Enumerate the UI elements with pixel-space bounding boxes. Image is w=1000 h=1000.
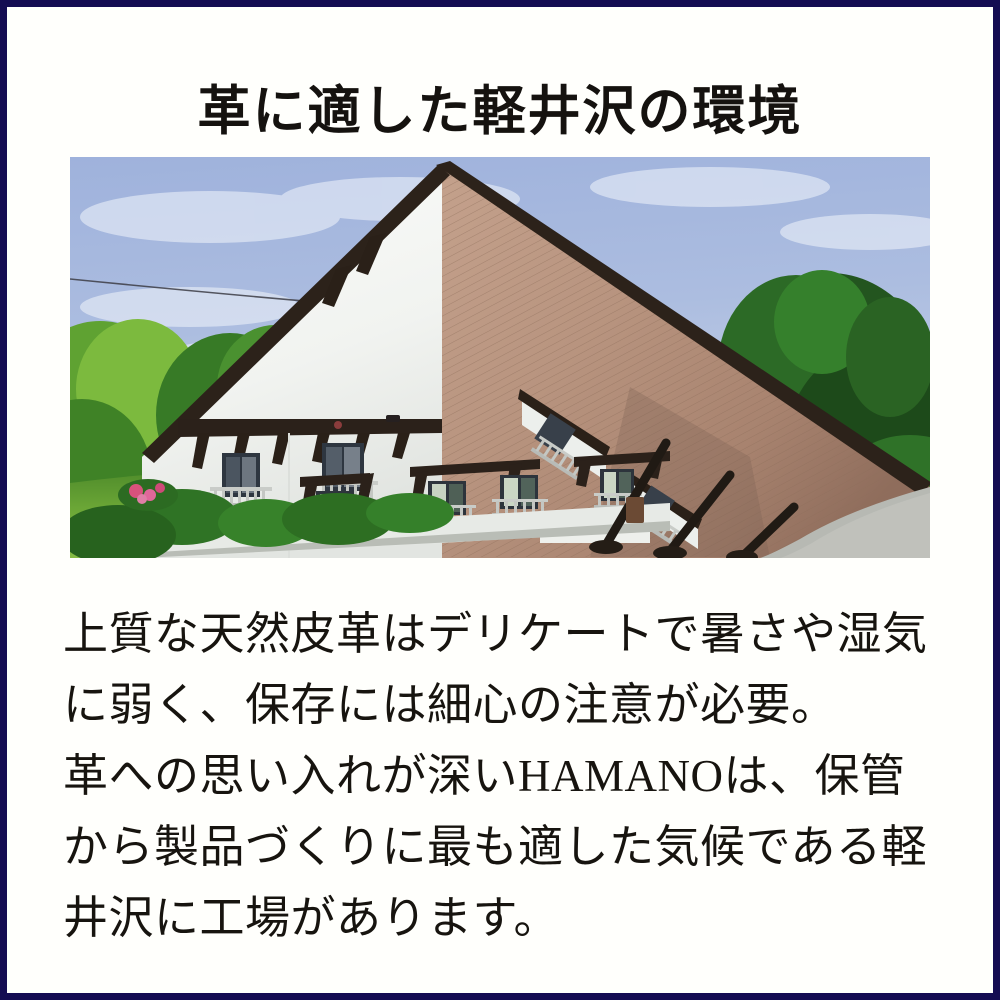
karuizawa-factory-lodge-photo xyxy=(70,157,930,558)
body-line-4: から製品づくりに最も適した気候である軽 xyxy=(63,812,953,883)
flower-box xyxy=(334,421,342,429)
page-title: 革に適した軽井沢の環境 xyxy=(7,79,993,145)
outdoor-bin xyxy=(626,497,644,523)
body-line-3: 革への思い入れが深いHAMANOは、保管 xyxy=(63,741,953,812)
flowering-bush xyxy=(118,479,178,511)
body-line-5: 井沢に工場があります。 xyxy=(63,883,953,954)
wall-lamp xyxy=(386,415,400,422)
body-line-2: に弱く、保存には細心の注意が必要。 xyxy=(63,670,953,741)
product-info-page: 革に適した軽井沢の環境 xyxy=(0,0,1000,1000)
body-copy: 上質な天然皮革はデリケートで暑さや湿気 に弱く、保存には細心の注意が必要。 革へ… xyxy=(63,599,953,954)
lodge-illustration xyxy=(70,157,930,558)
body-line-1: 上質な天然皮革はデリケートで暑さや湿気 xyxy=(63,599,953,670)
